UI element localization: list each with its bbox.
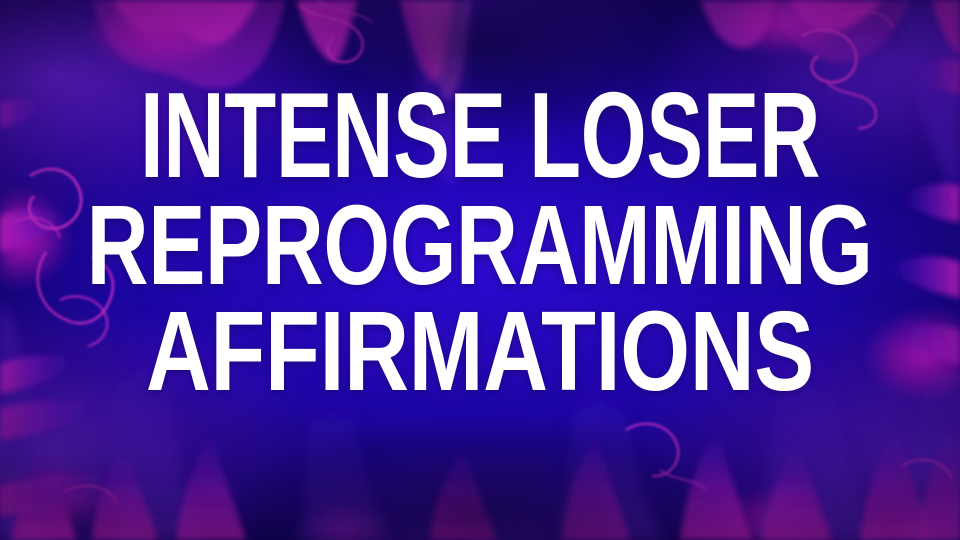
title-block: INTENSE LOSER REPROGRAMMING AFFIRMATIONS <box>0 0 960 540</box>
title-line-2: REPROGRAMMING <box>87 194 873 295</box>
title-line-1: INTENSE LOSER <box>140 76 820 194</box>
title-line-3: AFFIRMATIONS <box>146 300 814 401</box>
thumbnail-canvas: INTENSE LOSER REPROGRAMMING AFFIRMATIONS <box>0 0 960 540</box>
